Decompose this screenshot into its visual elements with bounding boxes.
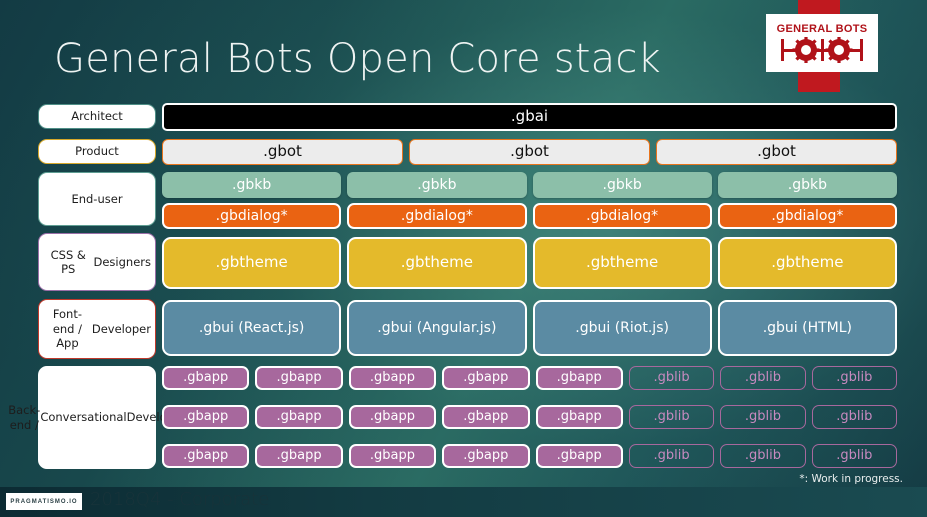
role-label-css-ps: CSS & PSDesigners	[38, 233, 156, 291]
stack-cell-gblib[interactable]: .gblib	[812, 366, 897, 390]
stack-cell-gbkb[interactable]: .gbkb	[347, 172, 526, 198]
role-label-architect: Architect	[38, 104, 156, 129]
stack-cell-gbdialog[interactable]: .gbdialog*	[718, 203, 897, 229]
stack-cell-gblib[interactable]: .gblib	[629, 405, 714, 429]
stack-cell-gblib[interactable]: .gblib	[812, 405, 897, 429]
role-label-frontend: Font-end / AppDeveloper	[38, 299, 156, 359]
stack-cell-gbkb[interactable]: .gbkb	[162, 172, 341, 198]
page-title: General Bots Open Core stack	[54, 36, 661, 82]
pragmatismo-logo: PRAGMATISMO.IO	[6, 493, 82, 510]
stack-cell-gbuiangularjs[interactable]: .gbui (Angular.js)	[347, 300, 526, 356]
row-gbdialog: .gbdialog*.gbdialog*.gbdialog*.gbdialog*	[162, 203, 897, 229]
stack-cell-gbdialog[interactable]: .gbdialog*	[533, 203, 712, 229]
slide-canvas: General Bots Open Core stack GENERAL BOT…	[0, 0, 927, 517]
stack-cell-gbapp[interactable]: .gbapp	[442, 366, 529, 390]
stack-cell-gblib[interactable]: .gblib	[720, 366, 805, 390]
row-gbapp-gblib-1: .gbapp.gbapp.gbapp.gbapp.gbapp.gblib.gbl…	[162, 366, 897, 390]
footnote-work-in-progress: *: Work in progress.	[799, 473, 903, 485]
stack-cell-gbapp[interactable]: .gbapp	[536, 366, 623, 390]
stack-cell-gbapp[interactable]: .gbapp	[349, 405, 436, 429]
stack-cell-gblib[interactable]: .gblib	[720, 444, 805, 468]
footer-text: 2018Q4 - Corporate	[90, 489, 269, 510]
stack-cell-gbapp[interactable]: .gbapp	[162, 405, 249, 429]
row-gbapp-gblib-3: .gbapp.gbapp.gbapp.gbapp.gbapp.gblib.gbl…	[162, 444, 897, 468]
footer-bar: PRAGMATISMO.IO 2018Q4 - Corporate	[0, 487, 927, 517]
row-gbai: .gbai	[162, 103, 897, 131]
stack-cell-gbtheme[interactable]: .gbtheme	[162, 237, 341, 289]
row-gbot: .gbot.gbot.gbot	[162, 139, 897, 165]
stack-cell-gbdialog[interactable]: .gbdialog*	[162, 203, 341, 229]
stack-cell-gbkb[interactable]: .gbkb	[533, 172, 712, 198]
stack-cell-gbot[interactable]: .gbot	[409, 139, 650, 165]
role-label-product: Product	[38, 139, 156, 164]
stack-cell-gbtheme[interactable]: .gbtheme	[718, 237, 897, 289]
role-label-line: Conversational	[40, 410, 126, 424]
stack-cell-gbtheme[interactable]: .gbtheme	[347, 237, 526, 289]
stack-cell-gbot[interactable]: .gbot	[162, 139, 403, 165]
logo-white-box: GENERAL BOTS	[766, 14, 878, 72]
role-label-line: Back-end /	[8, 403, 40, 432]
stack-cell-gbot[interactable]: .gbot	[656, 139, 897, 165]
role-label-line: Designers	[94, 255, 152, 269]
stack-cell-gbapp[interactable]: .gbapp	[255, 366, 342, 390]
role-label-line: Developer	[92, 322, 151, 336]
role-label-end-user: End-user	[38, 172, 156, 226]
logo-wordmark: GENERAL BOTS	[777, 23, 868, 35]
stack-cell-gbtheme[interactable]: .gbtheme	[533, 237, 712, 289]
stack-cell-gbapp[interactable]: .gbapp	[255, 405, 342, 429]
stack-cell-gbapp[interactable]: .gbapp	[536, 405, 623, 429]
stack-cell-gblib[interactable]: .gblib	[629, 366, 714, 390]
role-label-line: Product	[75, 144, 119, 158]
stack-cell-gbuiriotjs[interactable]: .gbui (Riot.js)	[533, 300, 712, 356]
stack-cell-gblib[interactable]: .gblib	[720, 405, 805, 429]
stack-cell-gbapp[interactable]: .gbapp	[162, 444, 249, 468]
stack-cell-gbai[interactable]: .gbai	[162, 103, 897, 131]
role-label-backend: Back-end /ConversationalDeveloper	[38, 366, 156, 469]
role-label-line: Architect	[71, 109, 123, 123]
gears-icon	[777, 37, 867, 63]
stack-cell-gbapp[interactable]: .gbapp	[442, 444, 529, 468]
stack-cell-gblib[interactable]: .gblib	[812, 444, 897, 468]
stack-cell-gbapp[interactable]: .gbapp	[349, 444, 436, 468]
stack-cell-gbuihtml[interactable]: .gbui (HTML)	[718, 300, 897, 356]
general-bots-logo: GENERAL BOTS	[758, 0, 888, 92]
row-gbtheme: .gbtheme.gbtheme.gbtheme.gbtheme	[162, 237, 897, 289]
role-label-line: CSS & PS	[43, 248, 94, 277]
stack-cell-gbapp[interactable]: .gbapp	[536, 444, 623, 468]
stack-cell-gblib[interactable]: .gblib	[629, 444, 714, 468]
row-gbkb: .gbkb.gbkb.gbkb.gbkb	[162, 172, 897, 198]
stack-cell-gbdialog[interactable]: .gbdialog*	[347, 203, 526, 229]
stack-cell-gbapp[interactable]: .gbapp	[349, 366, 436, 390]
role-label-line: Font-end / App	[43, 307, 92, 350]
stack-cell-gbapp[interactable]: .gbapp	[442, 405, 529, 429]
row-gbapp-gblib-2: .gbapp.gbapp.gbapp.gbapp.gbapp.gblib.gbl…	[162, 405, 897, 429]
role-label-line: End-user	[71, 192, 122, 206]
stack-cell-gbuireactjs[interactable]: .gbui (React.js)	[162, 300, 341, 356]
stack-cell-gbapp[interactable]: .gbapp	[255, 444, 342, 468]
stack-cell-gbkb[interactable]: .gbkb	[718, 172, 897, 198]
row-gbui: .gbui (React.js).gbui (Angular.js).gbui …	[162, 300, 897, 356]
stack-cell-gbapp[interactable]: .gbapp	[162, 366, 249, 390]
